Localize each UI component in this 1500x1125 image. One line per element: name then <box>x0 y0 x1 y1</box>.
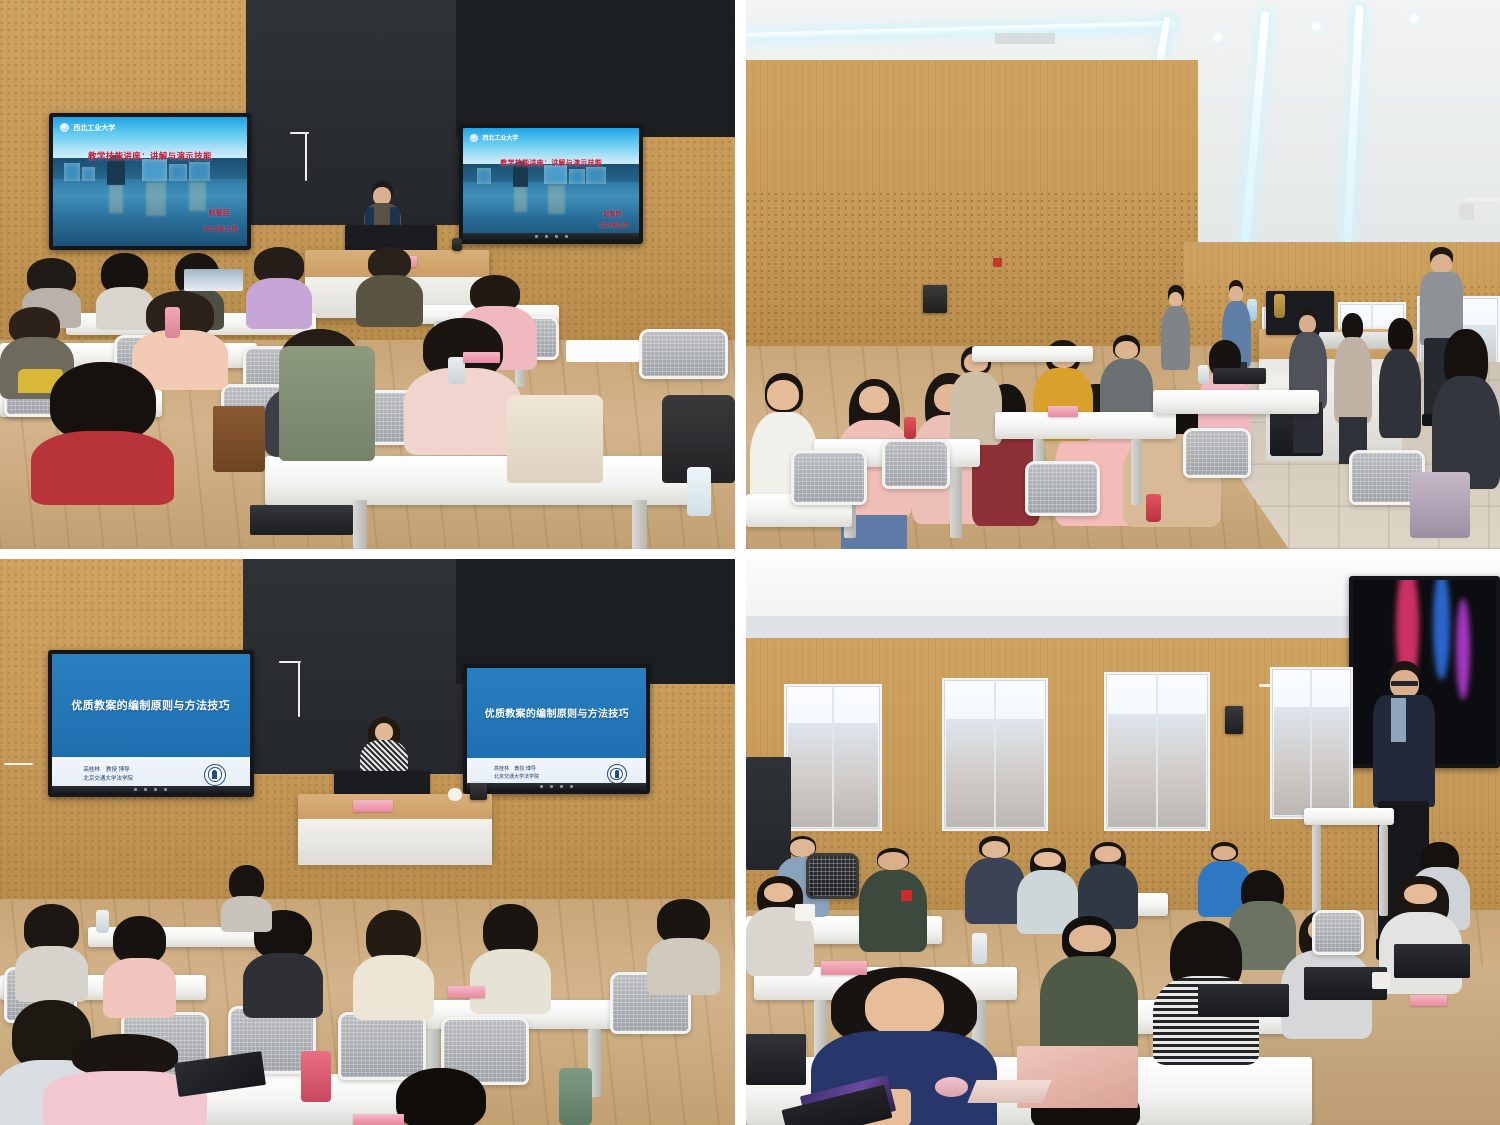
green-water-bottle <box>559 1068 592 1125</box>
camera-head-icon <box>1459 203 1474 219</box>
laptop[interactable] <box>1394 944 1469 978</box>
university-logo: 西北工业大学 <box>470 133 518 142</box>
seated-participant <box>221 865 272 927</box>
desk-name-card <box>821 961 866 975</box>
mug <box>1372 972 1390 989</box>
photo-bottom-left: 优质教案的编制原则与方法技巧 高桂林 教授 博导 北京交通大学法学院 <box>0 559 746 1125</box>
projector-pole-icon <box>298 661 300 718</box>
desk-name-card <box>463 352 500 363</box>
water-bottle <box>687 467 711 516</box>
downlight-icon <box>1312 22 1321 31</box>
slide-presenter-title: 教授 博导 <box>106 767 130 773</box>
slide-presenter-affiliation: 北京交通大学法学院 <box>494 774 539 782</box>
university-seal-icon <box>60 123 69 132</box>
pink-mouse[interactable] <box>935 1077 969 1097</box>
water-bottle <box>972 933 987 964</box>
smartboard-taskbar[interactable] <box>52 786 250 793</box>
camera-arm-icon <box>4 763 33 765</box>
university-logo: 西北工业大学 <box>60 123 115 133</box>
mesh-chair <box>882 439 950 488</box>
beige-coat <box>507 395 603 483</box>
thermos <box>1274 294 1285 319</box>
seated-participant <box>746 876 814 972</box>
desk-name-card <box>448 986 485 997</box>
window <box>1104 672 1210 830</box>
slide-date: 2024年11月 <box>203 223 237 233</box>
water-bottle <box>1198 365 1209 384</box>
seated-participant <box>404 318 522 450</box>
water-bottle <box>904 417 916 439</box>
eyeglasses-icon <box>1391 681 1418 686</box>
mug <box>448 788 461 800</box>
projector-screen-left: 西北工业大学 教学技能讲座：讲解与演示技能 赵智民 2024年11月 <box>49 113 252 250</box>
flag-patch <box>901 890 912 900</box>
university-name: 西北工业大学 <box>73 123 115 133</box>
photo-collage: 西北工业大学 教学技能讲座：讲解与演示技能 赵智民 2024年11月 <box>0 0 1500 1125</box>
projector-screen-left: 优质教案的编制原则与方法技巧 高桂林 教授 博导 北京交通大学法学院 <box>48 650 254 797</box>
student-desk <box>265 456 706 505</box>
mesh-chair <box>791 450 866 505</box>
laptop <box>1213 368 1266 384</box>
seated-participant <box>1078 842 1138 927</box>
slide-presenter-name: 高桂林 <box>494 766 509 772</box>
podium-device <box>470 783 486 800</box>
seated-participant <box>859 848 927 950</box>
seated-participant <box>1040 916 1138 1052</box>
pink-thermos <box>301 1051 330 1102</box>
mesh-chair <box>1025 461 1100 516</box>
window <box>784 684 882 831</box>
seated-participant <box>647 899 721 990</box>
pink-thermos <box>165 307 180 337</box>
slide-presenter-title: 教授 博导 <box>515 766 536 772</box>
slide-title: 优质教案的编制原则与方法技巧 <box>485 705 629 720</box>
seated-participant <box>37 362 169 494</box>
laptop-keyboard[interactable] <box>968 1080 1053 1103</box>
slide-presenter: 赵智民 <box>209 208 230 218</box>
window <box>942 678 1048 831</box>
seated-participant <box>965 836 1025 921</box>
water-bottle <box>96 910 109 933</box>
university-seal-icon <box>607 764 627 784</box>
paper-sheet <box>566 340 640 362</box>
photo-top-left: 西北工业大学 教学技能讲座：讲解与演示技能 赵智民 2024年11月 <box>0 0 746 559</box>
side-table <box>1304 808 1394 825</box>
mug <box>795 904 815 921</box>
training-desk <box>972 346 1093 362</box>
slide-title: 教学技能讲座：讲解与演示技能 <box>463 158 639 168</box>
training-desk <box>995 412 1176 439</box>
mesh-chair <box>639 329 727 378</box>
seated-participant <box>15 904 89 995</box>
wall-speaker <box>1225 706 1243 734</box>
wall-speaker <box>923 285 947 312</box>
seated-participant <box>103 916 177 1012</box>
podium-device <box>452 238 462 251</box>
laptop <box>184 269 243 291</box>
desk-name-card <box>1410 995 1448 1006</box>
projector-pole-icon <box>305 132 307 181</box>
university-seal-icon <box>470 134 478 142</box>
seated-participant <box>356 247 422 324</box>
slide-date: 2024年11月 <box>600 221 629 229</box>
slide-presenter: 赵智民 <box>604 209 622 218</box>
desk-name-card <box>1048 406 1078 417</box>
training-desk <box>1153 390 1319 415</box>
university-name: 西北工业大学 <box>482 133 518 142</box>
handbag <box>1410 472 1470 538</box>
smartboard-taskbar[interactable] <box>463 233 639 240</box>
downlight-icon <box>1410 14 1419 23</box>
laptop[interactable] <box>746 1034 806 1085</box>
standing-participant <box>1334 313 1372 461</box>
seated-participant <box>246 247 312 324</box>
down-jacket <box>279 346 375 461</box>
slide-presenter-affiliation: 北京交通大学法学院 <box>83 775 133 784</box>
slide-title: 优质教案的编制原则与方法技巧 <box>71 697 230 713</box>
photo-top-right <box>746 0 1500 559</box>
camera-arm-icon <box>1466 198 1500 201</box>
mesh-chair <box>1312 910 1365 955</box>
water-bottle <box>1146 494 1161 521</box>
projector-screen-right: 西北工业大学 教学技能讲座：讲解与演示技能 赵智民 2024年11月 <box>459 124 643 245</box>
handbag <box>213 406 264 472</box>
mesh-chair <box>806 853 859 898</box>
desk-name-card <box>353 1114 404 1125</box>
fire-alarm-icon <box>993 258 1002 267</box>
standing-participant <box>1161 285 1191 395</box>
laptop[interactable] <box>1198 984 1288 1018</box>
photo-bottom-right <box>746 559 1500 1125</box>
slide-presenter-name: 高桂林 <box>83 767 100 773</box>
notebook <box>250 505 353 535</box>
projector-screen-right: 优质教案的编制原则与方法技巧 高桂林 教授 博导 北京交通大学法学院 <box>463 664 650 794</box>
podium-name-card <box>353 800 393 812</box>
standing-participant <box>1289 307 1327 450</box>
standing-participant <box>1379 318 1420 472</box>
smartboard-taskbar[interactable] <box>467 783 646 790</box>
window <box>1270 667 1353 820</box>
slide-title: 教学技能讲座：讲解与演示技能 <box>53 150 248 162</box>
university-seal-icon <box>204 764 226 786</box>
seated-participant <box>353 910 434 1012</box>
mesh-chair <box>1183 428 1251 477</box>
